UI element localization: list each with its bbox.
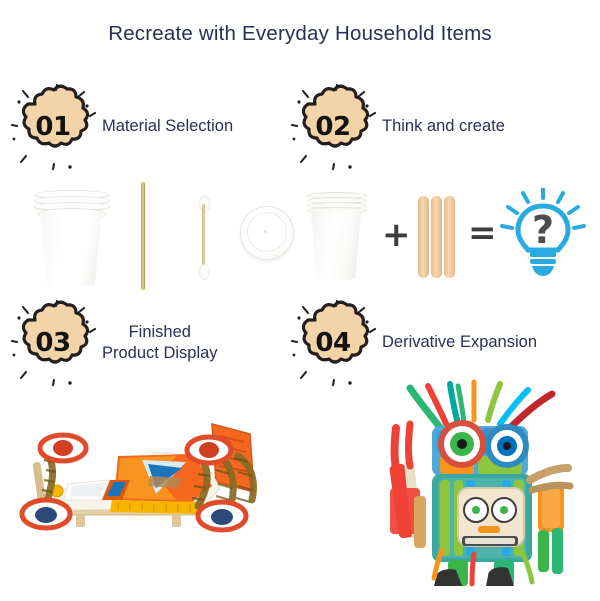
step-label-01: Material Selection bbox=[96, 116, 233, 137]
question-mark-glyph: ? bbox=[532, 208, 554, 252]
step-number-01: 01 bbox=[10, 84, 96, 170]
equation-row-02: + = ? bbox=[300, 182, 590, 290]
step-number-03: 03 bbox=[10, 300, 96, 386]
step-badge-02: 02 bbox=[290, 84, 376, 170]
poster-root: Recreate with Everyday Household Items bbox=[0, 0, 600, 600]
idea-lightbulb-icon: ? bbox=[500, 188, 586, 284]
step-badge-04: 04 bbox=[290, 300, 376, 386]
step-number-04: 04 bbox=[290, 300, 376, 386]
page-title: Recreate with Everyday Household Items bbox=[0, 22, 600, 46]
step-header-01: 01 Material Selection bbox=[10, 84, 233, 170]
step-label-02: Think and create bbox=[376, 116, 505, 137]
paper-cup-stack-icon bbox=[305, 192, 367, 282]
diy-robot-photo bbox=[370, 368, 594, 596]
paper-cup-stack-icon bbox=[32, 188, 110, 288]
plus-operator: + bbox=[382, 215, 411, 255]
step-number-02: 02 bbox=[290, 84, 376, 170]
equals-operator: = bbox=[468, 213, 497, 253]
step-badge-03: 03 bbox=[10, 300, 96, 386]
step-label-03: Finished Product Display bbox=[96, 322, 218, 364]
materials-row-01 bbox=[12, 182, 290, 290]
bamboo-skewer-icon bbox=[140, 182, 146, 290]
craft-sticks-icon bbox=[418, 196, 456, 278]
cotton-swab-icon bbox=[198, 196, 208, 278]
plastic-lid-icon bbox=[240, 206, 292, 258]
step-header-03: 03 Finished Product Display bbox=[10, 300, 218, 386]
step-header-02: 02 Think and create bbox=[290, 84, 505, 170]
step-label-04: Derivative Expansion bbox=[376, 332, 537, 353]
diy-race-car-photo bbox=[6, 396, 294, 576]
step-badge-01: 01 bbox=[10, 84, 96, 170]
